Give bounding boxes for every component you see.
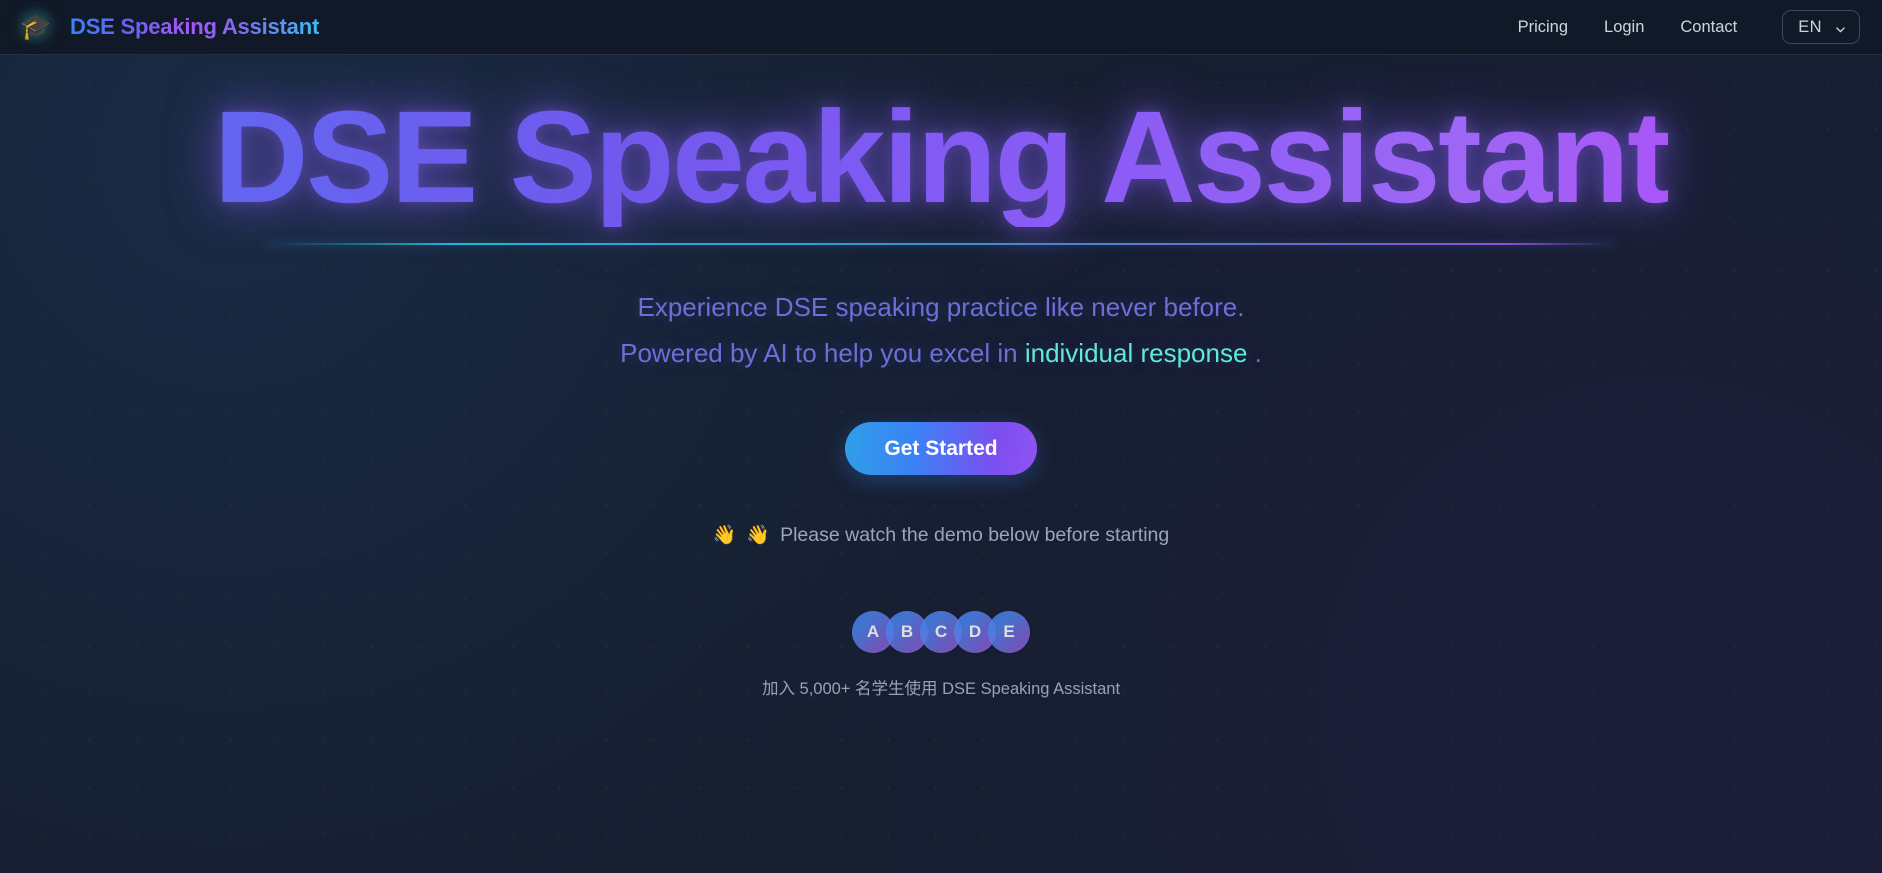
top-navigation-bar: 🎓 DSE Speaking Assistant Pricing Login C… — [0, 0, 1882, 55]
hero-title-underline — [265, 243, 1617, 245]
hero-section: DSE Speaking Assistant Experience DSE sp… — [0, 55, 1882, 873]
graduation-cap-icon: 🎓 — [16, 7, 56, 47]
main-nav: Pricing Login Contact EN — [1518, 10, 1860, 44]
page-title: DSE Speaking Assistant — [214, 88, 1668, 227]
student-avatar-group: A B C D E — [852, 611, 1030, 653]
demo-notice-text: Please watch the demo below before start… — [780, 524, 1169, 547]
hero-subtitle-highlight: individual response — [1025, 338, 1248, 368]
hero-subtitle: Experience DSE speaking practice like ne… — [620, 284, 1262, 377]
get-started-button[interactable]: Get Started — [845, 422, 1036, 475]
social-proof-caption: 加入 5,000+ 名学生使用 DSE Speaking Assistant — [762, 675, 1120, 699]
waving-hand-icon-2: 👋 — [746, 526, 770, 545]
language-selector[interactable]: EN — [1782, 10, 1860, 44]
cta-row: Get Started — [845, 422, 1036, 475]
hero-subtitle-suffix: . — [1247, 338, 1261, 368]
hero-subtitle-line-2: Powered by AI to help you excel in indiv… — [620, 330, 1262, 376]
hero-subtitle-line-1: Experience DSE speaking practice like ne… — [638, 292, 1245, 322]
nav-link-contact[interactable]: Contact — [1680, 18, 1737, 37]
avatar: E — [988, 611, 1030, 653]
brand-logo[interactable]: 🎓 DSE Speaking Assistant — [16, 7, 319, 47]
language-selected-value: EN — [1798, 18, 1822, 37]
hero-subtitle-prefix: Powered by AI to help you excel in — [620, 338, 1025, 368]
demo-notice: 👋 👋 Please watch the demo below before s… — [713, 524, 1170, 547]
nav-link-pricing[interactable]: Pricing — [1518, 18, 1568, 37]
chevron-down-icon — [1835, 22, 1846, 33]
brand-title: DSE Speaking Assistant — [70, 14, 319, 40]
nav-link-login[interactable]: Login — [1604, 18, 1644, 37]
waving-hand-icon-1: 👋 — [713, 526, 737, 545]
hero-title-block: DSE Speaking Assistant — [265, 88, 1617, 245]
